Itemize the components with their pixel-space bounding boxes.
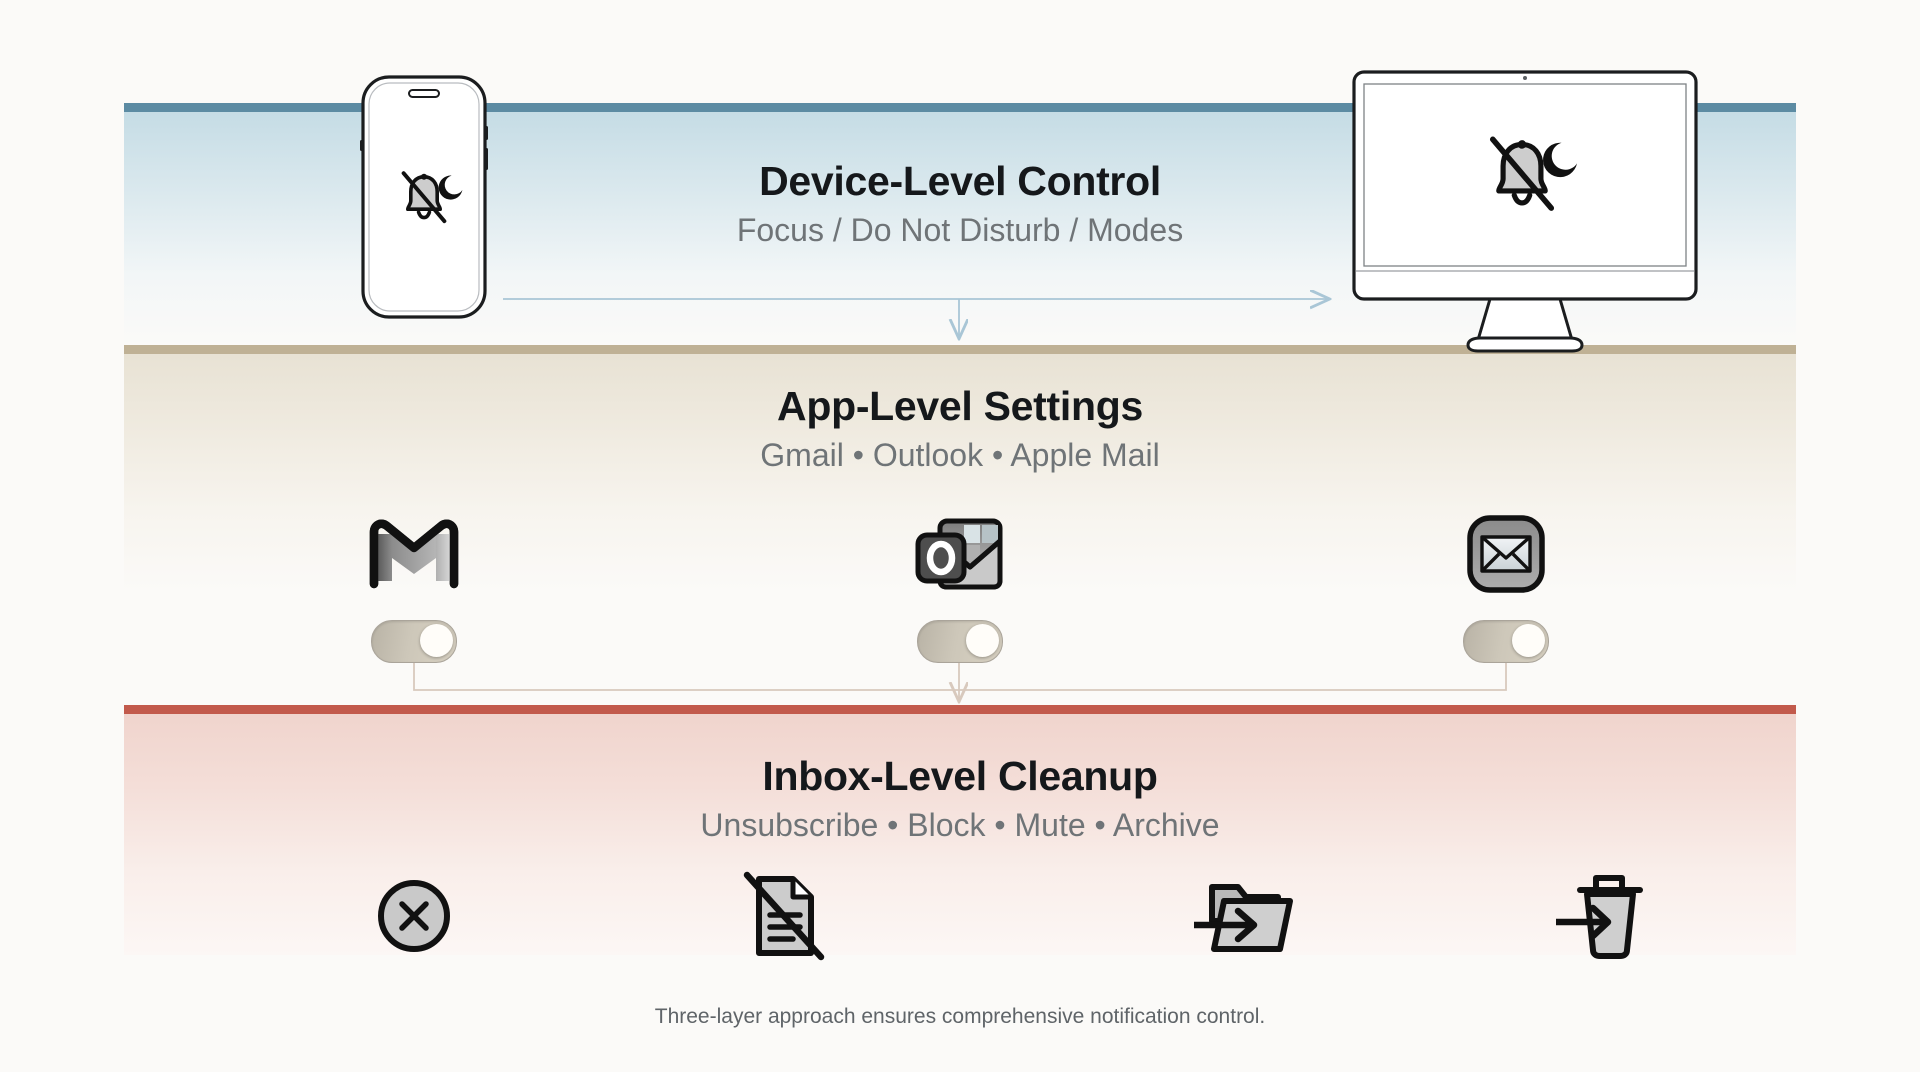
document-slash-icon (684, 868, 884, 964)
action-block[interactable] (684, 868, 884, 964)
gmail-notification-toggle[interactable] (371, 620, 457, 663)
app-icon-row (124, 508, 1796, 668)
app-level-subtitle: Gmail • Outlook • Apple Mail (0, 436, 1920, 474)
app-apple-mail[interactable] (1396, 508, 1616, 663)
inbox-level-heading-group: Inbox-Level Cleanup Unsubscribe • Block … (0, 755, 1920, 845)
app-level-heading-group: App-Level Settings Gmail • Outlook • App… (0, 385, 1920, 475)
outlook-icon (850, 508, 1070, 600)
gmail-icon (304, 508, 524, 600)
toggle-knob (1512, 624, 1545, 657)
inbox-band-rule (124, 705, 1796, 714)
app-outlook[interactable] (850, 508, 1070, 663)
desktop-monitor-device (1350, 68, 1700, 356)
inbox-level-title: Inbox-Level Cleanup (0, 755, 1920, 798)
apple-mail-icon (1396, 508, 1616, 600)
trash-arrow-icon (1504, 868, 1704, 964)
outlook-notification-toggle[interactable] (917, 620, 1003, 663)
action-archive[interactable] (1504, 868, 1704, 964)
folder-arrow-icon (1144, 868, 1344, 964)
infographic-canvas: Device-Level Control Focus / Do Not Dist… (0, 0, 1920, 1072)
toggle-knob (966, 624, 999, 657)
apple-mail-notification-toggle[interactable] (1463, 620, 1549, 663)
app-level-title: App-Level Settings (0, 385, 1920, 428)
inbox-action-row (124, 868, 1796, 978)
toggle-knob (420, 624, 453, 657)
app-gmail[interactable] (304, 508, 524, 663)
inbox-level-subtitle: Unsubscribe • Block • Mute • Archive (0, 806, 1920, 844)
footer-caption: Three-layer approach ensures comprehensi… (0, 1005, 1920, 1029)
action-unsubscribe[interactable] (314, 868, 514, 964)
phone-device (360, 74, 488, 320)
action-mute[interactable] (1144, 868, 1344, 964)
circle-x-icon (314, 868, 514, 964)
